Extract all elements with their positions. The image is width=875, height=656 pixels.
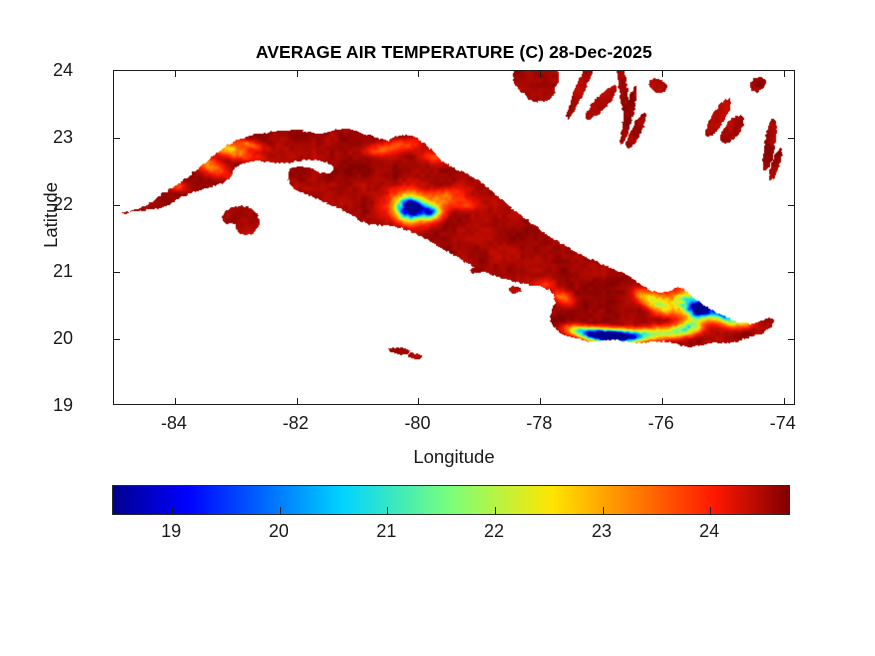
x-tick-mark-top <box>297 71 298 77</box>
colorbar-tick-mark <box>387 507 388 514</box>
y-tick-label: 20 <box>33 329 73 347</box>
page-title: AVERAGE AIR TEMPERATURE (C) 28-Dec-2025 <box>113 42 795 63</box>
y-tick-mark-right <box>788 138 794 139</box>
colorbar-tick-mark <box>710 507 711 514</box>
colorbar[interactable] <box>112 485 790 515</box>
x-tick-label: -82 <box>266 414 326 432</box>
y-tick-mark-right <box>788 205 794 206</box>
x-tick-mark-top <box>540 71 541 77</box>
temperature-heatmap <box>114 71 794 404</box>
x-tick-label: -78 <box>509 414 569 432</box>
y-tick-mark <box>114 138 120 139</box>
map-axes[interactable] <box>113 70 795 405</box>
x-tick-mark <box>175 398 176 404</box>
y-tick-mark <box>114 339 120 340</box>
y-tick-mark-right <box>788 272 794 273</box>
y-tick-label: 19 <box>33 396 73 414</box>
y-tick-label: 21 <box>33 262 73 280</box>
y-tick-mark <box>114 272 120 273</box>
colorbar-tick-mark <box>172 507 173 514</box>
x-tick-mark <box>662 398 663 404</box>
y-tick-label: 23 <box>33 128 73 146</box>
colorbar-tick-label: 22 <box>464 522 524 540</box>
x-tick-label: -74 <box>753 414 813 432</box>
x-tick-mark <box>418 398 419 404</box>
colorbar-gradient <box>112 485 790 515</box>
figure-canvas: AVERAGE AIR TEMPERATURE (C) 28-Dec-2025 … <box>0 0 875 656</box>
x-tick-mark-top <box>662 71 663 77</box>
y-tick-label: 24 <box>33 61 73 79</box>
x-tick-label: -80 <box>387 414 447 432</box>
y-tick-label: 22 <box>33 195 73 213</box>
x-tick-mark <box>297 398 298 404</box>
y-tick-mark-right <box>788 339 794 340</box>
x-tick-label: -76 <box>631 414 691 432</box>
x-tick-mark <box>540 398 541 404</box>
x-tick-mark <box>784 398 785 404</box>
colorbar-tick-label: 23 <box>572 522 632 540</box>
x-tick-mark-top <box>175 71 176 77</box>
x-axis-label: Longitude <box>113 446 795 468</box>
y-axis-label: Latitude <box>40 155 62 275</box>
colorbar-tick-label: 21 <box>356 522 416 540</box>
colorbar-tick-label: 19 <box>141 522 201 540</box>
colorbar-tick-mark <box>495 507 496 514</box>
colorbar-tick-label: 20 <box>249 522 309 540</box>
y-tick-mark <box>114 205 120 206</box>
x-tick-label: -84 <box>144 414 204 432</box>
x-tick-mark-top <box>784 71 785 77</box>
x-tick-mark-top <box>418 71 419 77</box>
colorbar-tick-label: 24 <box>679 522 739 540</box>
colorbar-tick-mark <box>280 507 281 514</box>
colorbar-tick-mark <box>603 507 604 514</box>
